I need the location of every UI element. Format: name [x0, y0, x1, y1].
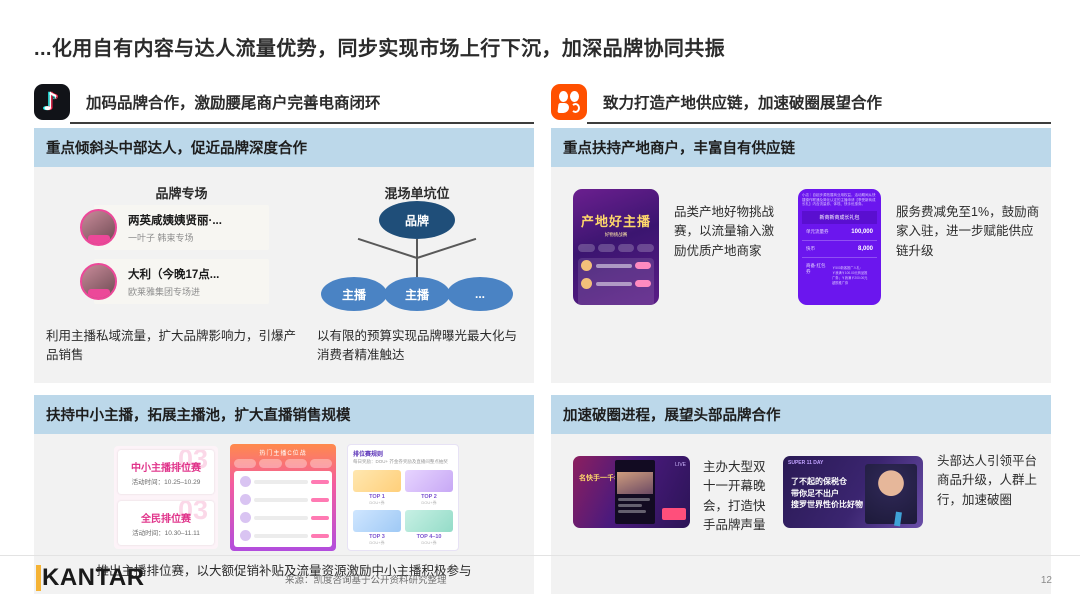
rank-card-subtitle: 活动时间：10.30–11.11: [132, 527, 200, 537]
benefit-key: 商备·红包券: [806, 263, 828, 275]
mixed-slot-title: 混场单坑位: [317, 183, 517, 202]
rules-cell: TOP 3 DOU+券: [353, 510, 401, 546]
live-title: 两英咸姨姨贤丽·...: [128, 212, 222, 228]
brand-anchor-tree: 品牌 主播 主播 ...: [317, 201, 517, 321]
benefit-value: 8,000: [858, 246, 873, 252]
table-row: 单元流量券 100,000: [802, 224, 877, 241]
row-text-line: [596, 264, 632, 268]
table-row: [237, 510, 329, 525]
tiktok-note-white: ♪: [43, 89, 59, 115]
row-score: [311, 516, 329, 520]
left-headline: 加码品牌合作，激励腰尾商户完善电商闭环: [86, 91, 381, 113]
right-column-header: 致力打造产地供应链，加速破圈展望合作: [551, 84, 1051, 128]
coupon-thumb: [353, 470, 401, 492]
live-subtitle: 一叶子 韩束专场: [128, 231, 194, 244]
right-section-1: 重点扶持产地商户，丰富自有供应链 产地好主播 好物挑战赛: [551, 128, 1051, 383]
anchor-ranking-rows: [234, 471, 332, 547]
ranking-rules-screenshot: 排位赛规则 每日奖励：DOU+ 芥金券奖励及直播间整点抽奖 TOP 1 DOU+…: [347, 444, 459, 551]
row-text-line: [254, 534, 308, 538]
benefit-key: 单元流量券: [806, 229, 829, 235]
left-section-1-bar: 重点倾斜头中部达人，促近品牌深度合作: [34, 128, 534, 167]
row-text-line: [254, 498, 308, 502]
row-score: [311, 498, 329, 502]
chip: [578, 244, 595, 252]
ranking-campaign-cards: 03 中小主播排位赛 活动时间：10.25–10.29 03 全民排位赛 活动时…: [114, 446, 218, 549]
benefit-card-header: 新商新商成长礼包: [802, 211, 877, 224]
row-score: [311, 534, 329, 538]
left-caption-2: 以有限的预算实现品牌曝光最大化与消费者精准触达: [317, 327, 522, 365]
right-header-rule: [587, 122, 1051, 124]
avatar: [80, 263, 117, 300]
rules-cell-desc: DOU+券: [405, 540, 453, 546]
table-row: 商备·红包券 ￥500新客推广人礼：￥我满￥100.00元商品推广券；￥我满￥2…: [802, 258, 877, 293]
tab-chip: [285, 459, 307, 468]
benefit-value: 100,000: [851, 229, 873, 235]
list-item[interactable]: 两英咸姨姨贤丽·... 一叶子 韩束专场: [94, 205, 269, 250]
coupon-thumb: [405, 470, 453, 492]
chip: [618, 244, 635, 252]
tree-edge-right: [417, 238, 477, 259]
coupon-thumb: [405, 510, 453, 532]
rank-card-title: 中小主播排位赛: [131, 459, 201, 474]
gala-banner-live-badge: LIVE: [675, 462, 686, 468]
rules-cell: TOP 4–10 DOU+券: [405, 510, 453, 546]
benefit-key: 快币: [806, 246, 815, 252]
tiktok-icon: ♪ ♪ ♪: [34, 84, 70, 120]
tab-chip: [234, 459, 256, 468]
tree-node-anchor-1: 主播: [321, 277, 387, 311]
rank-card-subtitle: 活动时间：10.25–10.29: [132, 476, 201, 486]
tab-chip: [259, 459, 281, 468]
chip: [637, 244, 654, 252]
row-text-line: [254, 516, 308, 520]
ranking-rules-sub: 每日奖励：DOU+ 芥金券奖励及直播间整点抽奖: [348, 459, 458, 465]
anchor-ranking-header: 热门主播C位战: [230, 444, 336, 459]
kuaishou-body: [557, 103, 569, 113]
right-column: 致力打造产地供应链，加速破圈展望合作 重点扶持产地商户，丰富自有供应链 产地好主…: [551, 84, 1051, 606]
avatar: [581, 260, 592, 271]
right-section-1-bar: 重点扶持产地商户，丰富自有供应链: [551, 128, 1051, 167]
benefit-card-footnote: ￥500新客推广人礼：￥我满￥100.00元商品推广券；￥我满￥200.00元超…: [828, 263, 873, 288]
gala-banner-photo: [617, 472, 653, 494]
anchor-ranking-screenshot: 热门主播C位战: [230, 444, 336, 551]
ranking-rules-header: 排位赛规则: [348, 445, 458, 459]
footer-divider: [0, 555, 1080, 556]
poster-rank-panel: [578, 258, 654, 305]
kantar-logo-text: KANTAR: [42, 564, 145, 592]
avatar: [240, 530, 251, 541]
table-row: 快币 8,000: [802, 241, 877, 258]
rules-cell-desc: DOU+券: [405, 500, 453, 506]
tab-chip: [310, 459, 332, 468]
left-column-header: ♪ ♪ ♪ 加码品牌合作，激励腰尾商户完善电商闭环: [34, 84, 534, 128]
brand-special-title: 品牌专场: [94, 183, 269, 202]
right-section-2-body: 名快手一千年一夜 LIVE 主办大型双十一开幕晚会，打造快手品牌声量 SUPER…: [551, 434, 1051, 594]
tree-node-anchor-more: ...: [447, 277, 513, 311]
live-badge: [88, 235, 110, 244]
gala-banner-tag: [662, 508, 686, 520]
rules-cell: TOP 1 DOU+券: [353, 470, 401, 506]
avatar: [80, 209, 117, 246]
row-score: [311, 480, 329, 484]
source-note: 来源：凯度咨询基于公开资料研究整理: [285, 572, 447, 586]
row-text-line: [596, 282, 632, 286]
kuaishou-g-mark: [571, 103, 580, 113]
rank-card: 03 中小主播排位赛 活动时间：10.25–10.29: [118, 450, 214, 494]
kantar-logo-bar: [36, 565, 41, 591]
rules-cell: TOP 2 DOU+券: [405, 470, 453, 506]
slide-root: ...化用自有内容与达人流量优势，同步实现市场上行下沉，加深品牌协同共振 ♪ ♪…: [0, 0, 1080, 608]
avatar: [240, 512, 251, 523]
row-button: [635, 262, 651, 269]
live-title: 大利（今晚17点...: [128, 266, 219, 282]
text-line: [618, 510, 646, 513]
right-caption-2: 服务费减免至1%，鼓励商家入驻，进一步赋能供应链升级: [896, 203, 1041, 261]
table-row: [581, 276, 651, 291]
rules-cell-desc: DOU+券: [353, 540, 401, 546]
kantar-logo: KANTAR: [36, 564, 145, 592]
merchant-benefit-card: 小店｜自起步源拓展商业用权益，活动期间从快捷操作联通及简化认定的主播申请【享受新…: [798, 189, 881, 305]
page-title: ...化用自有内容与达人流量优势，同步实现市场上行下沉，加深品牌协同共振: [34, 32, 725, 61]
live-room-list: 两英咸姨姨贤丽·... 一叶子 韩束专场 大利（今晚17点... 欧莱雅集团专场…: [94, 205, 269, 313]
kuaishou-icon: [551, 84, 587, 120]
row-text-line: [254, 480, 308, 484]
tree-node-brand: 品牌: [379, 201, 455, 239]
banner-copy-line-2: 带你足不出户: [791, 488, 863, 500]
banner-copy-line-3: 搜罗世界性价比好物: [791, 499, 863, 511]
host-tie: [894, 512, 902, 527]
banner-badge: SUPER 11 DAY: [788, 460, 823, 466]
left-column: ♪ ♪ ♪ 加码品牌合作，激励腰尾商户完善电商闭环 重点倾斜头中部达人，促近品牌…: [34, 84, 534, 606]
live-subtitle: 欧莱雅集团专场进: [128, 285, 200, 298]
poster-chips: [573, 238, 659, 255]
tree-node-anchor-2: 主播: [384, 277, 450, 311]
table-row: [237, 492, 329, 507]
benefit-card-note: 小店｜自起步源拓展商业用权益，活动期间从快捷操作联通及简化认定的主播申请【享受新…: [802, 193, 877, 207]
gala-banner: 名快手一千年一夜 LIVE: [573, 456, 690, 528]
avatar: [240, 476, 251, 487]
left-section-2-bar: 扶持中小主播，拓展主播池，扩大直播销售规模: [34, 395, 534, 434]
right-headline: 致力打造产地供应链，加速破圈展望合作: [603, 91, 882, 113]
anchor-ranking-tabs: [230, 459, 336, 471]
right-caption-1: 品类产地好物挑战赛，以流量输入激励优质产地商家: [674, 203, 779, 261]
text-line: [618, 504, 642, 507]
list-item[interactable]: 大利（今晚17点... 欧莱雅集团专场进: [94, 259, 269, 304]
gala-banner-phone: [615, 460, 655, 524]
ranking-rules-grid: TOP 1 DOU+券 TOP 2 DOU+券 TOP 3 DOU+券: [348, 465, 458, 551]
kuaishou-eye-right: [570, 91, 579, 102]
left-header-rule: [70, 122, 534, 124]
table-row: [237, 474, 329, 489]
bonded-warehouse-banner: SUPER 11 DAY 了不起的保税仓 带你足不出户 搜罗世界性价比好物: [783, 456, 923, 528]
right-section-2: 加速破圈进程，展望头部品牌合作 名快手一千年一夜 LIVE 主办大型双十一开幕晚…: [551, 395, 1051, 594]
page-number: 12: [1041, 575, 1052, 586]
left-caption-1: 利用主播私域流量，扩大品牌影响力，引爆产品销售: [46, 327, 296, 365]
right-caption-4: 头部达人引领平台商品升级，人群上行，加速破圈: [937, 452, 1042, 510]
rank-card-title: 全民排位赛: [141, 510, 191, 525]
avatar: [240, 494, 251, 505]
origin-anchor-poster: 产地好主播 好物挑战赛: [573, 189, 659, 305]
kuaishou-eye-left: [559, 91, 568, 102]
right-section-2-bar: 加速破圈进程，展望头部品牌合作: [551, 395, 1051, 434]
rank-card: 03 全民排位赛 活动时间：10.30–11.11: [118, 501, 214, 545]
table-row: [237, 528, 329, 543]
banner-copy-line-1: 了不起的保税仓: [791, 476, 863, 488]
text-line: [618, 498, 650, 501]
table-row: [581, 258, 651, 273]
avatar: [581, 278, 592, 289]
rules-cell-desc: DOU+券: [353, 500, 401, 506]
left-section-1: 重点倾斜头中部达人，促近品牌深度合作 品牌专场 两英咸姨姨贤丽·... 一叶子 …: [34, 128, 534, 383]
poster-title: 产地好主播: [573, 211, 659, 230]
tree-edge-left: [358, 238, 418, 259]
row-button: [635, 280, 651, 287]
right-section-1-body: 产地好主播 好物挑战赛 品类产地好物挑战赛，以流量输入激励优质产地商家: [551, 167, 1051, 383]
coupon-thumb: [353, 510, 401, 532]
left-section-1-body: 品牌专场 两英咸姨姨贤丽·... 一叶子 韩束专场 大利（今晚17点... 欧莱…: [34, 167, 534, 383]
right-caption-3: 主办大型双十一开幕晚会，打造快手品牌声量: [703, 458, 773, 536]
live-badge: [88, 289, 110, 298]
chip: [598, 244, 615, 252]
host-portrait: [865, 464, 917, 524]
banner-copy: 了不起的保税仓 带你足不出户 搜罗世界性价比好物: [791, 476, 863, 511]
